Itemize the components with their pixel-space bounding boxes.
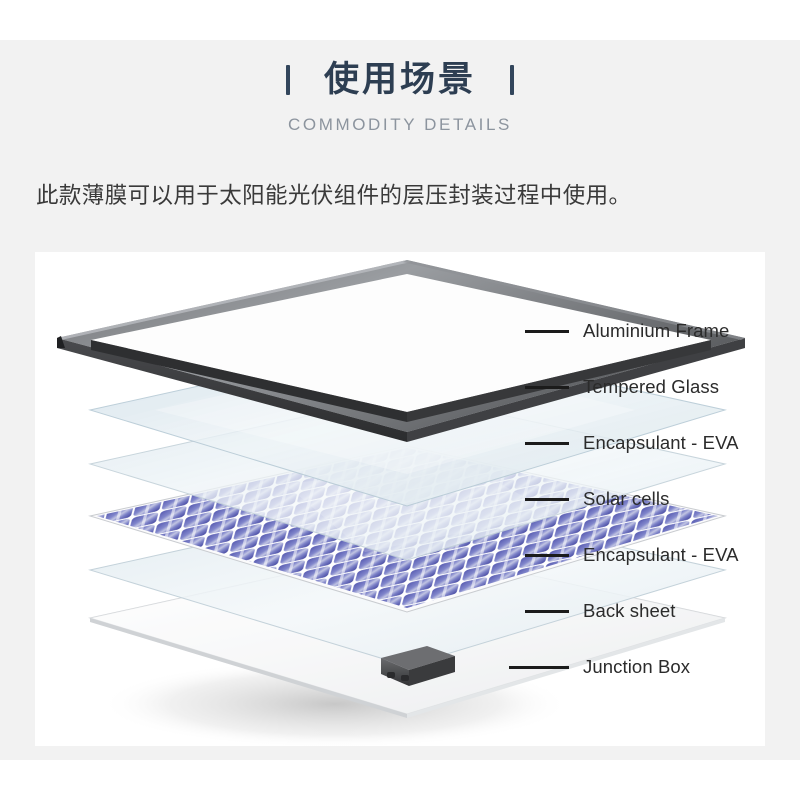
callout-junction-box: Junction Box bbox=[509, 656, 690, 678]
page-header: 使用场景 COMMODITY DETAILS bbox=[0, 56, 800, 135]
callout-label: Tempered Glass bbox=[583, 376, 719, 398]
callout-leader-line-icon bbox=[525, 554, 569, 557]
title-rule-right-icon bbox=[510, 65, 514, 95]
callout-encapsulant-eva-upper: Encapsulant - EVA bbox=[525, 432, 739, 454]
callout-leader-line-icon bbox=[525, 386, 569, 389]
callout-encapsulant-eva-lower: Encapsulant - EVA bbox=[525, 544, 739, 566]
callout-label: Back sheet bbox=[583, 600, 676, 622]
callout-leader-line-icon bbox=[509, 666, 569, 669]
callout-label: Junction Box bbox=[583, 656, 690, 678]
product-diagram-card: Aluminium Frame Tempered Glass Encapsula… bbox=[35, 252, 765, 746]
callout-label-list: Aluminium Frame Tempered Glass Encapsula… bbox=[35, 252, 765, 746]
callout-label: Encapsulant - EVA bbox=[583, 544, 739, 566]
description-text: 此款薄膜可以用于太阳能光伏组件的层压封装过程中使用。 bbox=[36, 178, 776, 210]
callout-leader-line-icon bbox=[525, 442, 569, 445]
callout-label: Solar cells bbox=[583, 488, 669, 510]
page-subtitle: COMMODITY DETAILS bbox=[0, 115, 800, 135]
callout-leader-line-icon bbox=[525, 330, 569, 333]
callout-leader-line-icon bbox=[525, 610, 569, 613]
callout-leader-line-icon bbox=[525, 498, 569, 501]
callout-label: Aluminium Frame bbox=[583, 320, 729, 342]
callout-tempered-glass: Tempered Glass bbox=[525, 376, 719, 398]
title-row: 使用场景 bbox=[0, 56, 800, 104]
callout-back-sheet: Back sheet bbox=[525, 600, 676, 622]
page-title: 使用场景 bbox=[324, 59, 476, 101]
callout-aluminium-frame: Aluminium Frame bbox=[525, 320, 729, 342]
callout-label: Encapsulant - EVA bbox=[583, 432, 739, 454]
callout-solar-cells: Solar cells bbox=[525, 488, 669, 510]
page-root: 使用场景 COMMODITY DETAILS 此款薄膜可以用于太阳能光伏组件的层… bbox=[0, 0, 800, 800]
title-rule-left-icon bbox=[286, 65, 290, 95]
